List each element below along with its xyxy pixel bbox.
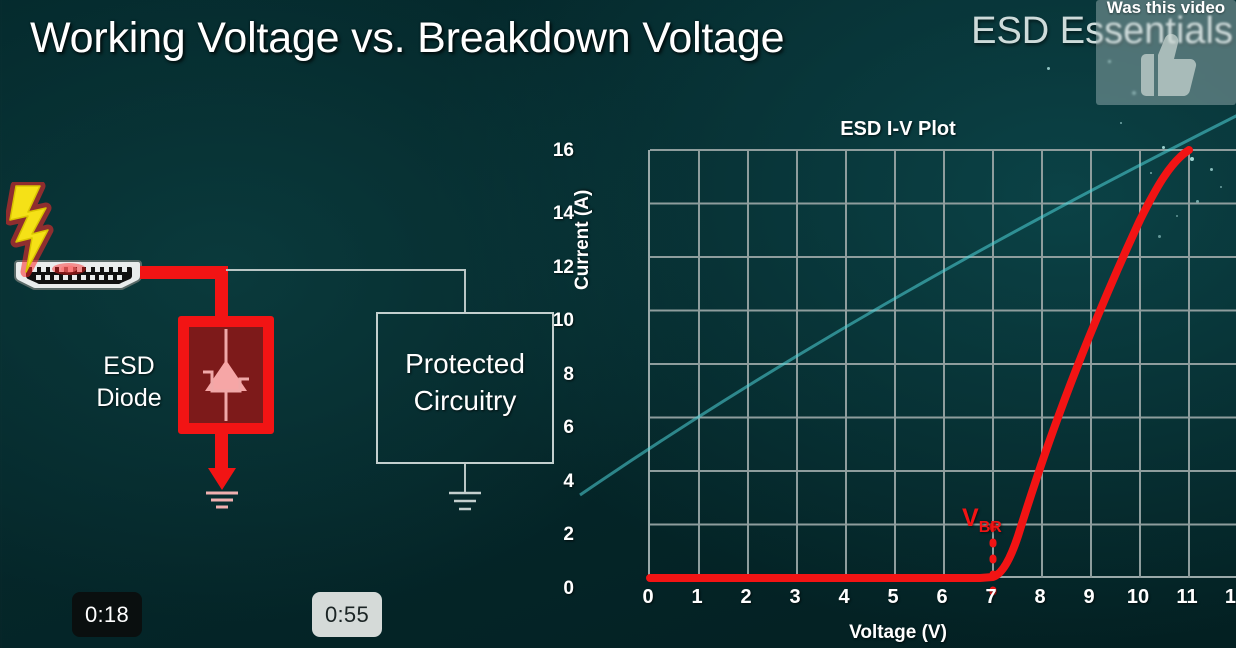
esd-diode-block (178, 316, 274, 434)
iv-plot: ESD I-V Plot Current (A) (580, 100, 1236, 648)
vbr-symbol: V (962, 504, 979, 532)
y-tick-10: 10 (534, 310, 574, 332)
x-tick-6: 6 (922, 586, 962, 609)
wire-signal-horizontal (226, 269, 466, 271)
esd-diode-label: ESD Diode (86, 350, 172, 414)
x-tick-8: 8 (1020, 586, 1060, 609)
ground-symbol-gray-icon (447, 490, 483, 516)
protected-label-line1: Protected (405, 348, 525, 379)
y-tick-4: 4 (534, 471, 574, 493)
page-title: Working Voltage vs. Breakdown Voltage (30, 14, 784, 63)
x-tick-4: 4 (824, 586, 864, 609)
plot-svg (650, 150, 1236, 578)
y-tick-16: 16 (534, 140, 574, 162)
x-tick-12: 12 (1216, 586, 1236, 609)
total-time-badge[interactable]: 0:55 (312, 592, 382, 637)
thumbs-up-icon[interactable] (1124, 28, 1202, 98)
x-tick-7: 7 (971, 586, 1011, 609)
wire-protected-to-ground (464, 463, 466, 493)
y-tick-8: 8 (534, 364, 574, 386)
x-tick-3: 3 (775, 586, 815, 609)
x-tick-2: 2 (726, 586, 766, 609)
wire-signal-vertical (464, 269, 466, 313)
lightning-bolt-icon (6, 182, 76, 277)
zener-diode-icon (189, 327, 263, 423)
y-axis-title-wrapper: Current (A) (572, 130, 596, 290)
x-tick-9: 9 (1069, 586, 1109, 609)
y-tick-14: 14 (534, 203, 574, 225)
y-tick-6: 6 (534, 417, 574, 439)
x-axis-title: Voltage (V) (570, 622, 1226, 644)
x-tick-11: 11 (1167, 586, 1207, 609)
esd-label-line2: Diode (96, 384, 161, 412)
vbr-subscript: BR (979, 519, 1002, 536)
chart-title: ESD I-V Plot (570, 118, 1226, 141)
esd-label-line1: ESD (103, 352, 154, 380)
x-tick-0: 0 (628, 586, 668, 609)
slide-canvas: Working Voltage vs. Breakdown Voltage ES… (0, 0, 1236, 648)
plot-area (648, 150, 1236, 578)
y-tick-0: 0 (534, 578, 574, 600)
protected-circuitry-label: Protected Circuitry (376, 345, 554, 419)
x-tick-10: 10 (1118, 586, 1158, 609)
y-axis-title: Current (A) (572, 130, 594, 290)
circuit-diagram: ESD Diode Protected Circuitry (0, 150, 600, 550)
wire-node-to-diode (215, 266, 228, 322)
y-tick-2: 2 (534, 524, 574, 546)
survey-overlay-text: Was this video (1096, 0, 1236, 18)
x-tick-1: 1 (677, 586, 717, 609)
x-tick-5: 5 (873, 586, 913, 609)
current-time-badge[interactable]: 0:18 (72, 592, 142, 637)
y-tick-12: 12 (534, 257, 574, 279)
vbr-annotation-label: VBR (962, 504, 1002, 537)
protected-label-line2: Circuitry (414, 385, 517, 416)
survey-overlay-card[interactable]: Was this video (1096, 0, 1236, 105)
ground-symbol-red-icon (198, 466, 246, 510)
accent-curve (580, 115, 1236, 495)
